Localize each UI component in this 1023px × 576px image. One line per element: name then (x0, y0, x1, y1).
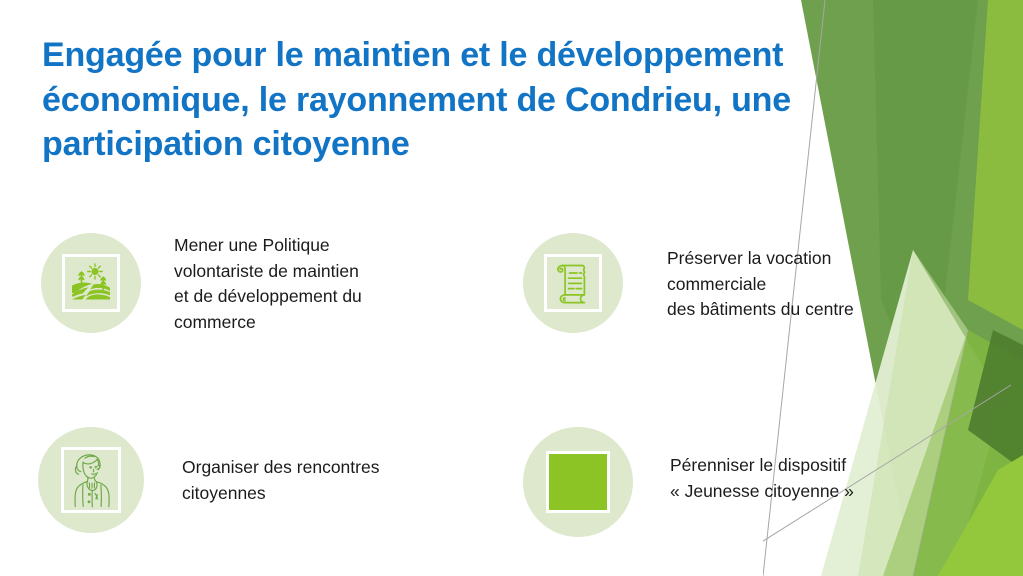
landscape-fields-icon (66, 258, 116, 308)
icon-circle (523, 233, 623, 333)
bullet-item-jeunesse-citoyenne: Pérenniser le dispositif « Jeunesse cito… (523, 427, 854, 537)
bullet-item-vocation-commerciale: Préserver la vocation commerciale des bâ… (523, 233, 854, 333)
bullet-item-label: Préserver la vocation commerciale des bâ… (667, 246, 854, 323)
icon-circle (523, 427, 633, 537)
slide-title: Engagée pour le maintien et le développe… (42, 33, 887, 167)
scroll-document-icon (550, 260, 596, 306)
bullet-item-label: Organiser des rencontres citoyennes (182, 455, 379, 506)
icon-frame (62, 254, 120, 312)
bullet-item-politique-commerce: Mener une Politique volontariste de main… (41, 233, 362, 336)
slide: Engagée pour le maintien et le développe… (0, 0, 1023, 576)
bullet-item-label: Mener une Politique volontariste de main… (174, 233, 362, 336)
icon-circle (38, 427, 144, 533)
woman-portrait-icon (64, 448, 118, 512)
bullet-item-label: Pérenniser le dispositif « Jeunesse cito… (670, 453, 854, 504)
icon-frame (61, 447, 121, 513)
icon-circle (41, 233, 141, 333)
green-square-icon (546, 451, 610, 513)
icon-frame (544, 254, 602, 312)
bullet-item-rencontres-citoyennes: Organiser des rencontres citoyennes (38, 427, 379, 533)
